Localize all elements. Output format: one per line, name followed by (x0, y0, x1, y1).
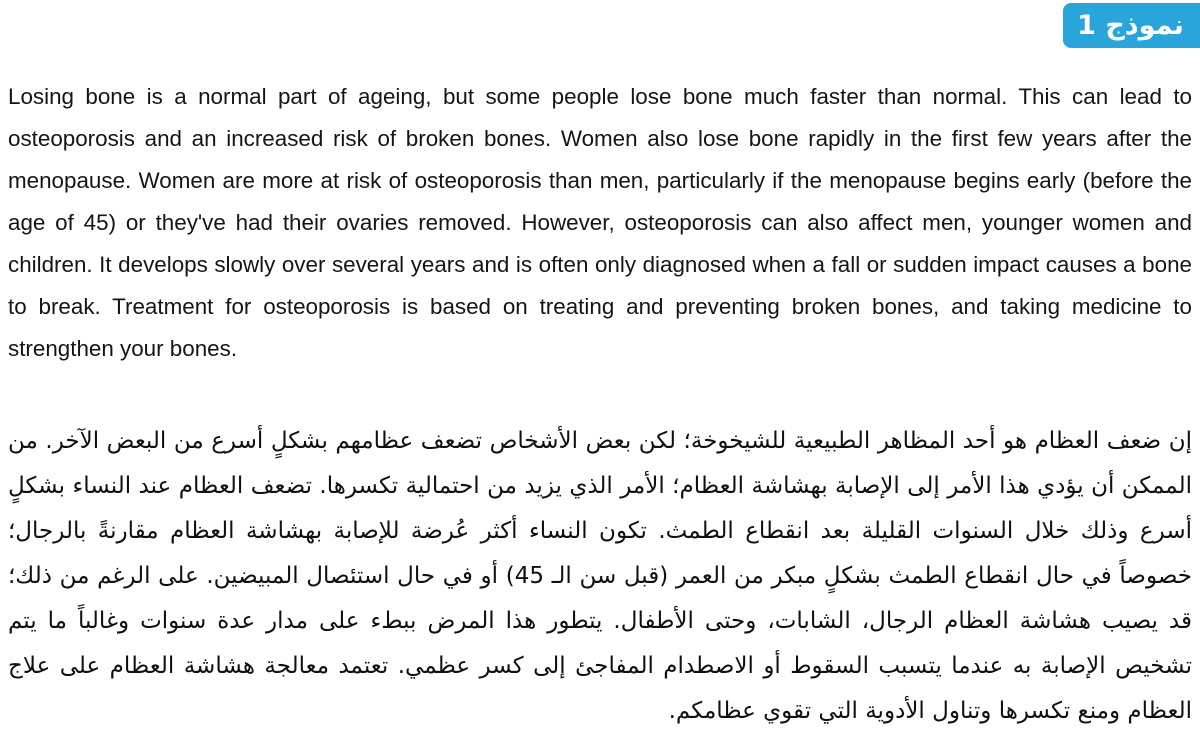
arabic-paragraph-text: إن ضعف العظام هو أحد المظاهر الطبيعية لل… (8, 419, 1192, 734)
arabic-paragraph: إن ضعف العظام هو أحد المظاهر الطبيعية لل… (8, 419, 1192, 734)
document-page: نموذج 1 Losing bone is a normal part of … (0, 0, 1200, 736)
badge-row: نموذج 1 (0, 3, 1200, 49)
english-paragraph-text: Losing bone is a normal part of ageing, … (8, 76, 1192, 370)
model-number-badge: نموذج 1 (1063, 3, 1200, 48)
english-paragraph: Losing bone is a normal part of ageing, … (8, 76, 1192, 370)
model-number-badge-label: نموذج 1 (1077, 12, 1194, 39)
